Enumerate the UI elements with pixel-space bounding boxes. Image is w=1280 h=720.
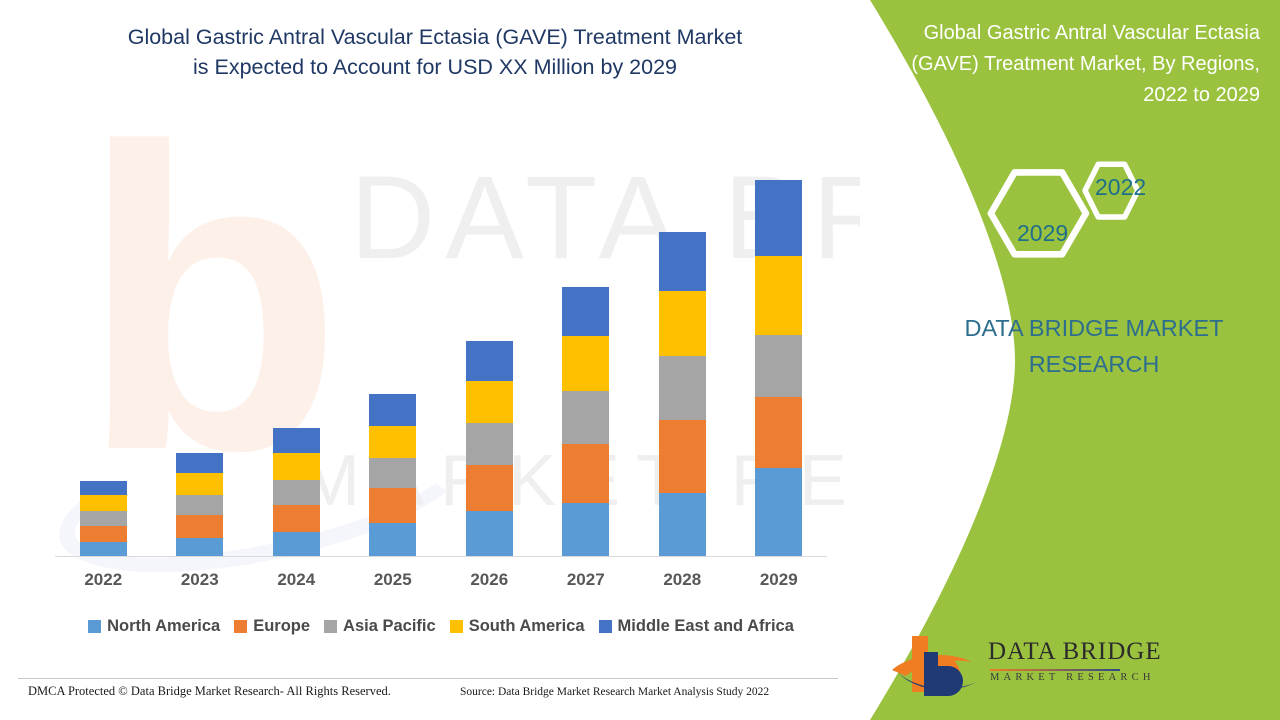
bar-segment (659, 356, 706, 419)
x-axis-tick-label: 2024 (248, 570, 344, 590)
bar-segment (659, 232, 706, 291)
bar-segment (755, 256, 802, 334)
stacked-bar (176, 453, 223, 556)
bar-segment (273, 505, 320, 531)
chart-title: Global Gastric Antral Vascular Ectasia (… (40, 22, 830, 82)
bar-segment (273, 453, 320, 479)
legend-label: Europe (253, 617, 310, 636)
bar-segment (562, 336, 609, 391)
stacked-bar (562, 287, 609, 556)
logo-subtitle: MARKET RESEARCH (990, 672, 1155, 683)
bar-segment (273, 532, 320, 556)
bar-segment (562, 391, 609, 444)
poster-canvas: b DATA BRIDGE MARKET RESEARCH Global Gas… (0, 0, 1280, 720)
right-panel-title: Global Gastric Antral Vascular Ectasia (… (910, 18, 1260, 111)
legend-item[interactable]: Europe (234, 617, 310, 636)
legend-label: South America (469, 617, 585, 636)
chart-legend: North AmericaEuropeAsia PacificSouth Ame… (55, 617, 827, 636)
legend-label: Middle East and Africa (618, 617, 794, 636)
bar-segment (80, 511, 127, 525)
logo-wordmark: DATA BRIDGE (988, 638, 1162, 666)
bar-segment (176, 515, 223, 537)
bar-segment (176, 495, 223, 515)
bar-segment (755, 468, 802, 556)
bar-column (345, 180, 441, 556)
bar-column (248, 180, 344, 556)
data-bridge-logo: DATA BRIDGE MARKET RESEARCH (890, 628, 1120, 698)
bar-segment (369, 394, 416, 426)
legend-swatch-icon (450, 620, 463, 633)
legend-swatch-icon (324, 620, 337, 633)
stacked-bar (80, 481, 127, 556)
bar-column (731, 180, 827, 556)
legend-label: North America (107, 617, 220, 636)
bar-segment (755, 335, 802, 397)
stacked-bar (755, 180, 802, 556)
stacked-bar (369, 394, 416, 556)
bar-segment (80, 481, 127, 495)
bar-group (55, 180, 827, 556)
logo-divider (990, 669, 1120, 671)
x-axis-tick-label: 2025 (345, 570, 441, 590)
legend-label: Asia Pacific (343, 617, 436, 636)
x-axis-tick-label: 2028 (634, 570, 730, 590)
hexagon-label-end-year: 2029 (1017, 220, 1068, 247)
chart-title-line-2: is Expected to Account for USD XX Millio… (40, 52, 830, 82)
bar-segment (466, 465, 513, 511)
legend-item[interactable]: South America (450, 617, 585, 636)
bar-segment (369, 458, 416, 488)
bar-column (152, 180, 248, 556)
bar-segment (176, 473, 223, 495)
bar-segment (176, 453, 223, 473)
legend-swatch-icon (234, 620, 247, 633)
legend-item[interactable]: Asia Pacific (324, 617, 436, 636)
stacked-bar (273, 428, 320, 556)
bar-segment (659, 420, 706, 493)
bar-segment (466, 381, 513, 423)
chart-title-line-1: Global Gastric Antral Vascular Ectasia (… (40, 22, 830, 52)
bar-segment (466, 511, 513, 556)
footer-divider (18, 678, 838, 679)
bar-segment (562, 287, 609, 336)
x-axis-labels: 20222023202420252026202720282029 (55, 570, 827, 590)
x-axis-tick-label: 2022 (55, 570, 151, 590)
stacked-bar (659, 232, 706, 556)
logo-mark-icon (890, 630, 982, 696)
chart-plot-area: 20222023202420252026202720282029 (0, 0, 860, 720)
bar-segment (176, 538, 223, 556)
bar-segment (466, 423, 513, 466)
footer-copyright: DMCA Protected © Data Bridge Market Rese… (28, 684, 391, 699)
legend-swatch-icon (88, 620, 101, 633)
x-axis-line (55, 556, 827, 557)
footer-source: Source: Data Bridge Market Research Mark… (460, 686, 769, 698)
bar-segment (562, 444, 609, 503)
stacked-bar (466, 341, 513, 556)
bar-segment (466, 341, 513, 380)
bar-segment (369, 523, 416, 556)
bar-segment (273, 480, 320, 506)
x-axis-tick-label: 2029 (731, 570, 827, 590)
bar-segment (80, 542, 127, 556)
legend-swatch-icon (599, 620, 612, 633)
legend-item[interactable]: North America (88, 617, 220, 636)
hexagon-label-start-year: 2022 (1095, 174, 1146, 201)
x-axis-tick-label: 2026 (441, 570, 537, 590)
bar-segment (562, 503, 609, 556)
hexagon-badges: 2022 2029 (975, 142, 1185, 282)
bar-column (634, 180, 730, 556)
bar-segment (369, 488, 416, 523)
bar-column (55, 180, 151, 556)
x-axis-tick-label: 2027 (538, 570, 634, 590)
bar-segment (755, 397, 802, 468)
legend-item[interactable]: Middle East and Africa (599, 617, 794, 636)
right-panel-brand: DATA BRIDGE MARKET RESEARCH (944, 310, 1244, 382)
bar-column (538, 180, 634, 556)
bar-column (441, 180, 537, 556)
x-axis-tick-label: 2023 (152, 570, 248, 590)
bar-segment (80, 526, 127, 542)
bar-segment (369, 426, 416, 458)
bar-segment (659, 493, 706, 556)
bar-segment (659, 291, 706, 356)
bar-segment (80, 495, 127, 511)
bar-segment (273, 428, 320, 454)
bar-segment (755, 180, 802, 256)
